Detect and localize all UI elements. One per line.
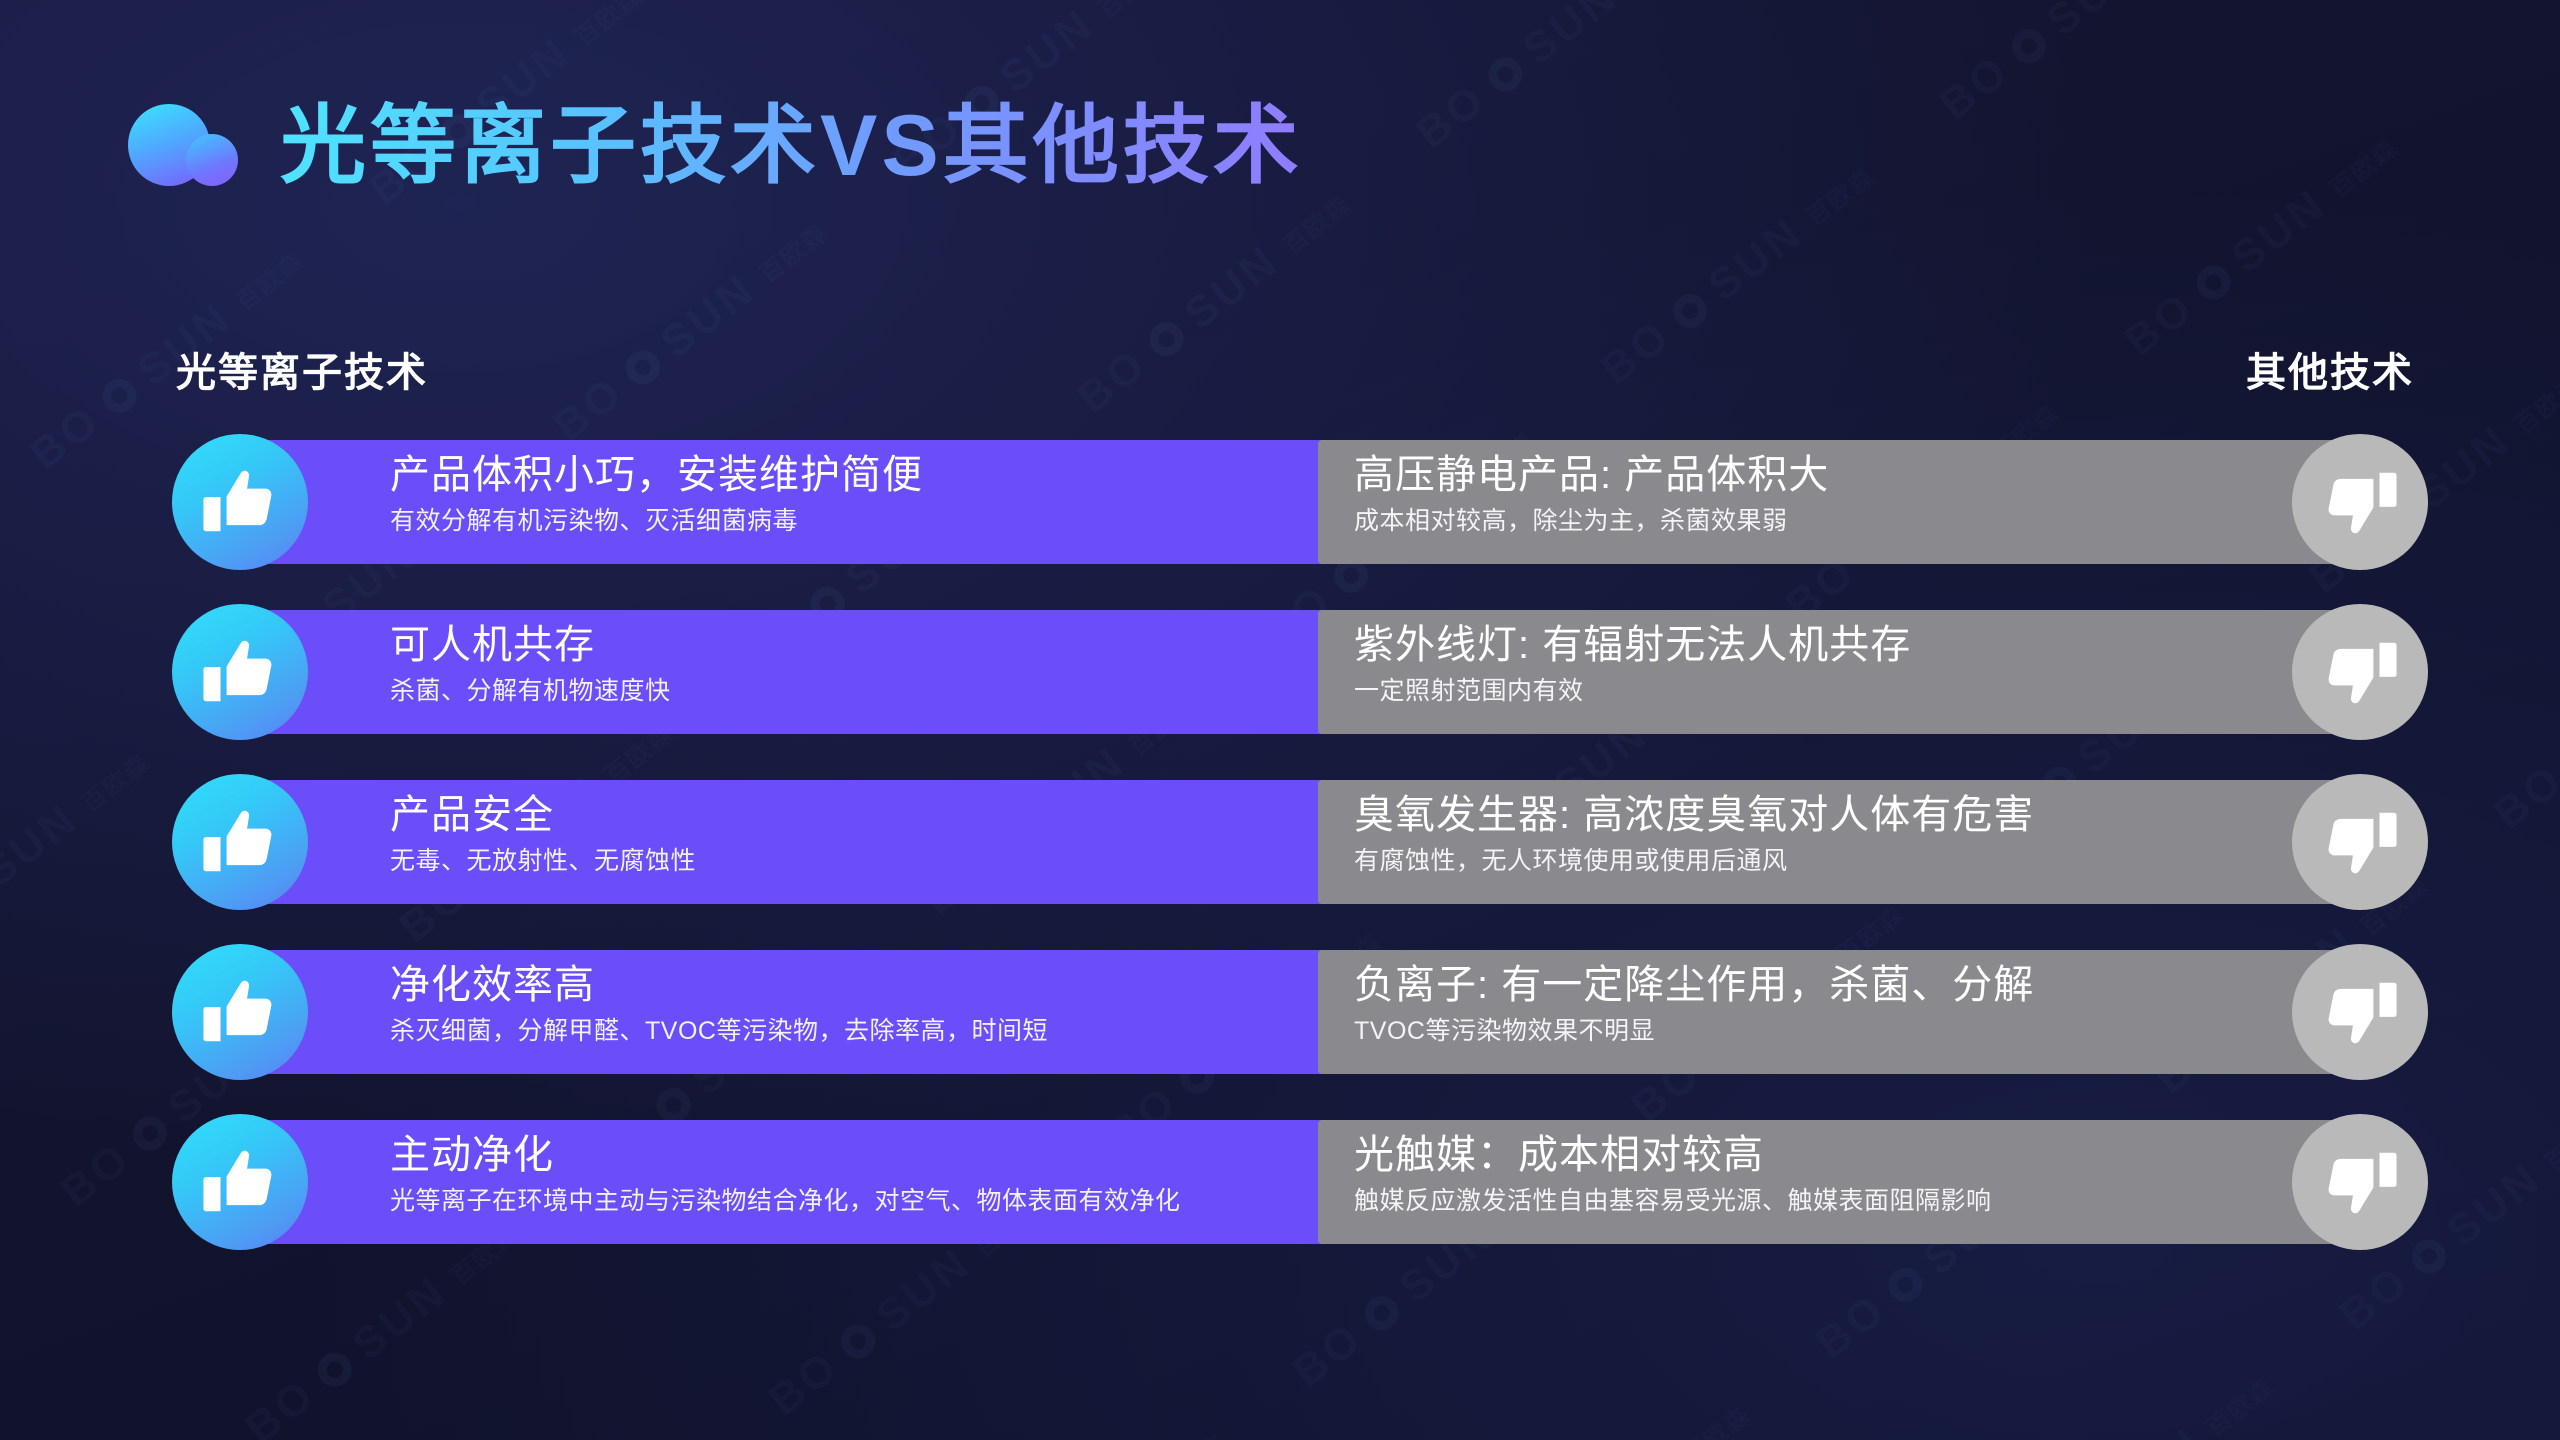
right-card-wrapper: 负离子: 有一定降尘作用，杀菌、分解TVOC等污染物效果不明显	[1318, 950, 2428, 1074]
right-feature-card[interactable]: 光触媒：成本相对较高触媒反应激发活性自由基容易受光源、触媒表面阻隔影响	[1318, 1120, 2364, 1244]
right-feature-card[interactable]: 紫外线灯: 有辐射无法人机共存一定照射范围内有效	[1318, 610, 2364, 734]
right-card-title: 臭氧发生器: 高浓度臭氧对人体有危害	[1354, 792, 2244, 839]
column-header-right: 其他技术	[2246, 340, 2414, 398]
watermark-ring-icon	[311, 1346, 359, 1394]
thumbs-up-icon	[172, 774, 308, 910]
right-card-subtitle: 一定照射范围内有效	[1354, 676, 2244, 706]
left-card-subtitle: 有效分解有机污染物、灭活细菌病毒	[390, 506, 1333, 536]
watermark-ring-icon	[2005, 22, 2053, 70]
left-card-wrapper: 可人机共存杀菌、分解有机物速度快	[172, 610, 1357, 734]
decoration-dot-small	[186, 134, 238, 186]
right-card-title: 负离子: 有一定降尘作用，杀菌、分解	[1354, 962, 2244, 1009]
left-card-text: 主动净化光等离子在环境中主动与污染物结合净化，对空气、物体表面有效净化	[390, 1132, 1333, 1216]
thumbs-down-icon	[2292, 434, 2428, 570]
right-card-text: 光触媒：成本相对较高触媒反应激发活性自由基容易受光源、触媒表面阻隔影响	[1354, 1132, 2244, 1216]
right-feature-card[interactable]: 负离子: 有一定降尘作用，杀菌、分解TVOC等污染物效果不明显	[1318, 950, 2364, 1074]
watermark-ring-icon	[834, 1318, 882, 1366]
watermark-ring-icon	[1358, 1289, 1406, 1337]
right-card-subtitle: TVOC等污染物效果不明显	[1354, 1016, 2244, 1046]
thumbs-down-icon	[2292, 1114, 2428, 1250]
left-feature-card[interactable]: 净化效率高杀灭细菌，分解甲醛、TVOC等污染物，去除率高，时间短	[224, 950, 1357, 1074]
thumbs-up-icon	[172, 604, 308, 740]
left-card-text: 产品体积小巧，安装维护简便有效分解有机污染物、灭活细菌病毒	[390, 452, 1333, 536]
thumbs-up-icon	[172, 1114, 308, 1250]
right-card-subtitle: 成本相对较高，除尘为主，杀菌效果弱	[1354, 506, 2244, 536]
slide-canvas: BOSUN百欧森BOSUN百欧森BOSUN百欧森BOSUN百欧森BOSUN百欧森…	[0, 0, 2560, 1440]
watermark-logo: BOSUN百欧森	[622, 0, 1146, 49]
right-card-text: 紫外线灯: 有辐射无法人机共存一定照射范围内有效	[1354, 622, 2244, 706]
watermark-logo: BOSUN百欧森	[344, 1288, 868, 1440]
title-row: 光等离子技术VS其他技术	[128, 100, 1303, 192]
thumbs-up-icon	[172, 944, 308, 1080]
right-card-subtitle: 有腐蚀性，无人环境使用或使用后通风	[1354, 846, 2244, 876]
comparison-row: 可人机共存杀菌、分解有机物速度快紫外线灯: 有辐射无法人机共存一定照射范围内有效	[0, 610, 2560, 780]
left-card-title: 可人机共存	[390, 622, 1333, 669]
left-card-title: 主动净化	[390, 1132, 1333, 1179]
left-card-wrapper: 主动净化光等离子在环境中主动与污染物结合净化，对空气、物体表面有效净化	[172, 1120, 1357, 1244]
left-card-text: 净化效率高杀灭细菌，分解甲醛、TVOC等污染物，去除率高，时间短	[390, 962, 1333, 1046]
right-card-wrapper: 高压静电产品: 产品体积大成本相对较高，除尘为主，杀菌效果弱	[1318, 440, 2428, 564]
right-card-text: 高压静电产品: 产品体积大成本相对较高，除尘为主，杀菌效果弱	[1354, 452, 2244, 536]
left-card-subtitle: 无毒、无放射性、无腐蚀性	[390, 846, 1333, 876]
left-card-wrapper: 净化效率高杀灭细菌，分解甲醛、TVOC等污染物，去除率高，时间短	[172, 950, 1357, 1074]
thumbs-up-icon	[172, 434, 308, 570]
left-card-subtitle: 光等离子在环境中主动与污染物结合净化，对空气、物体表面有效净化	[390, 1186, 1333, 1216]
left-feature-card[interactable]: 产品体积小巧，安装维护简便有效分解有机污染物、灭活细菌病毒	[224, 440, 1357, 564]
watermark-logo: BOSUN百欧森	[1330, 0, 1854, 257]
title-decoration-dots-icon	[128, 100, 246, 192]
right-card-subtitle: 触媒反应激发活性自由基容易受光源、触媒表面阻隔影响	[1354, 1186, 2244, 1216]
thumbs-down-icon	[2292, 774, 2428, 910]
right-card-title: 光触媒：成本相对较高	[1354, 1132, 2244, 1179]
comparison-row: 产品安全无毒、无放射性、无腐蚀性臭氧发生器: 高浓度臭氧对人体有危害有腐蚀性，无…	[0, 780, 2560, 950]
right-card-title: 高压静电产品: 产品体积大	[1354, 452, 2244, 499]
column-header-left: 光等离子技术	[176, 340, 428, 398]
right-card-text: 负离子: 有一定降尘作用，杀菌、分解TVOC等污染物效果不明显	[1354, 962, 2244, 1046]
left-card-wrapper: 产品体积小巧，安装维护简便有效分解有机污染物、灭活细菌病毒	[172, 440, 1357, 564]
left-card-title: 产品体积小巧，安装维护简便	[390, 452, 1333, 499]
right-card-wrapper: 光触媒：成本相对较高触媒反应激发活性自由基容易受光源、触媒表面阻隔影响	[1318, 1120, 2428, 1244]
left-card-wrapper: 产品安全无毒、无放射性、无腐蚀性	[172, 780, 1357, 904]
left-card-text: 可人机共存杀菌、分解有机物速度快	[390, 622, 1333, 706]
left-card-title: 产品安全	[390, 792, 1333, 839]
comparison-rows: 产品体积小巧，安装维护简便有效分解有机污染物、灭活细菌病毒高压静电产品: 产品体…	[0, 440, 2560, 1290]
right-card-wrapper: 紫外线灯: 有辐射无法人机共存一定照射范围内有效	[1318, 610, 2428, 734]
page-title: 光等离子技术VS其他技术	[280, 101, 1303, 191]
watermark-logo: BOSUN百欧森	[1515, 0, 2039, 494]
right-feature-card[interactable]: 臭氧发生器: 高浓度臭氧对人体有危害有腐蚀性，无人环境使用或使用后通风	[1318, 780, 2364, 904]
right-card-text: 臭氧发生器: 高浓度臭氧对人体有危害有腐蚀性，无人环境使用或使用后通风	[1354, 792, 2244, 876]
left-card-title: 净化效率高	[390, 962, 1333, 1009]
left-card-subtitle: 杀灭细菌，分解甲醛、TVOC等污染物，去除率高，时间短	[390, 1016, 1333, 1046]
watermark-ring-icon	[1481, 51, 1529, 99]
watermark-ring-icon	[1143, 315, 1191, 363]
right-feature-card[interactable]: 高压静电产品: 产品体积大成本相对较高，除尘为主，杀菌效果弱	[1318, 440, 2364, 564]
left-card-subtitle: 杀菌、分解有机物速度快	[390, 676, 1333, 706]
watermark-ring-icon	[2190, 259, 2238, 307]
watermark-ring-icon	[1666, 287, 1714, 335]
watermark-logo: BOSUN百欧森	[1146, 0, 1670, 21]
watermark-ring-icon	[96, 372, 144, 420]
watermark-ring-icon	[619, 344, 667, 392]
left-feature-card[interactable]: 主动净化光等离子在环境中主动与污染物结合净化，对空气、物体表面有效净化	[224, 1120, 1357, 1244]
watermark-logo: BOSUN百欧森	[0, 1316, 344, 1440]
left-card-text: 产品安全无毒、无放射性、无腐蚀性	[390, 792, 1333, 876]
watermark-logo: BOSUN百欧森	[1854, 0, 2378, 229]
right-card-title: 紫外线灯: 有辐射无法人机共存	[1354, 622, 2244, 669]
right-card-wrapper: 臭氧发生器: 高浓度臭氧对人体有危害有腐蚀性，无人环境使用或使用后通风	[1318, 780, 2428, 904]
left-feature-card[interactable]: 可人机共存杀菌、分解有机物速度快	[224, 610, 1357, 734]
thumbs-down-icon	[2292, 604, 2428, 740]
comparison-row: 主动净化光等离子在环境中主动与污染物结合净化，对空气、物体表面有效净化光触媒：成…	[0, 1120, 2560, 1290]
left-feature-card[interactable]: 产品安全无毒、无放射性、无腐蚀性	[224, 780, 1357, 904]
comparison-row: 产品体积小巧，安装维护简便有效分解有机污染物、灭活细菌病毒高压静电产品: 产品体…	[0, 440, 2560, 610]
comparison-row: 净化效率高杀灭细菌，分解甲醛、TVOC等污染物，去除率高，时间短负离子: 有一定…	[0, 950, 2560, 1120]
thumbs-down-icon	[2292, 944, 2428, 1080]
